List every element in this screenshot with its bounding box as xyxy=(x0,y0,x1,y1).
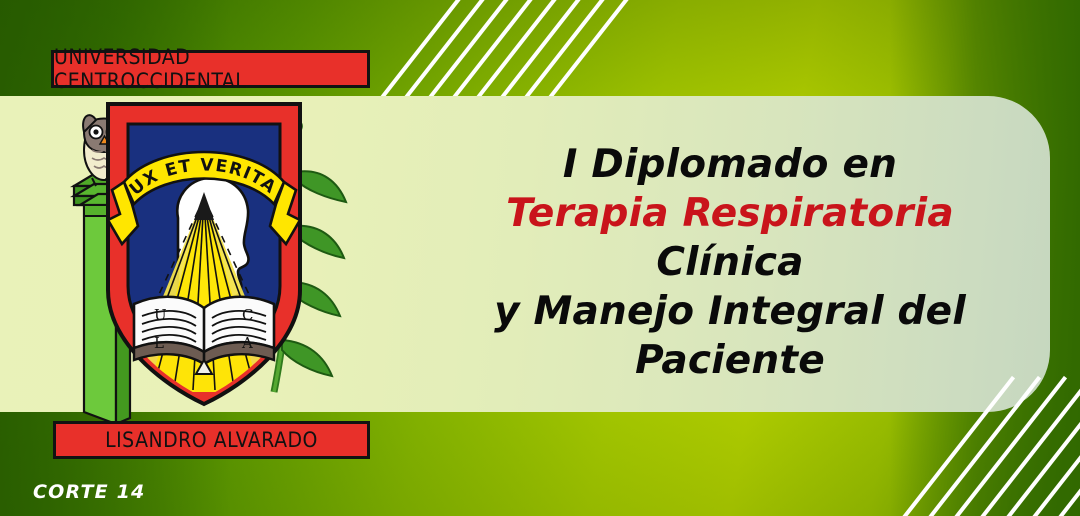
banner-universidad-centroccidental: UNIVERSIDAD CENTROCCIDENTAL xyxy=(51,50,370,88)
headline-accent: Terapia Respiratoria xyxy=(506,191,954,236)
headline-block: I Diplomado en Terapia Respiratoria Clín… xyxy=(430,140,1030,385)
headline-line-1: I Diplomado en xyxy=(430,140,1030,189)
book-letter-l: L xyxy=(154,334,164,352)
headline-line-2-rest: Clínica xyxy=(656,240,803,285)
headline-line-2: Terapia Respiratoria Clínica xyxy=(430,189,1030,287)
book-letter-a: A xyxy=(241,334,253,352)
university-crest: LUX ET VERITAS xyxy=(28,92,398,432)
corte-label: CORTE 14 xyxy=(33,481,145,503)
banner-lisandro-alvarado: LISANDRO ALVARADO xyxy=(53,421,370,459)
shield: LUX ET VERITAS xyxy=(21,77,300,404)
headline-line-3: y Manejo Integral del xyxy=(430,287,1030,336)
book-letter-c: C xyxy=(242,306,253,324)
headline-line-4: Paciente xyxy=(430,336,1030,385)
poster-canvas: LUX ET VERITAS xyxy=(0,0,1080,516)
book-letter-u: U xyxy=(154,306,167,324)
